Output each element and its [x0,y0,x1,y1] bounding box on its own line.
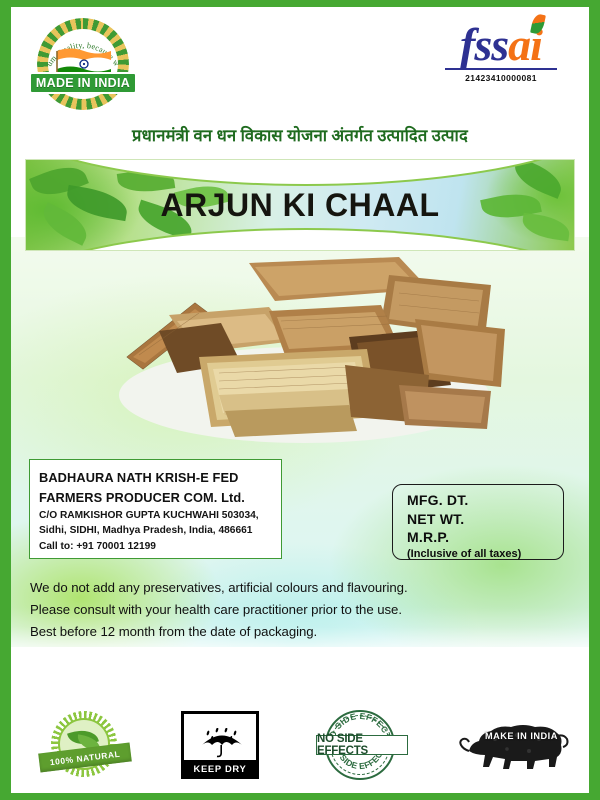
fssai-letter-a: a [508,19,530,70]
make-in-india-badge: MAKE IN INDIA [459,715,571,775]
label-inner: Premium Quality, because we care MADE IN… [11,7,589,793]
net-weight-label: NET WT. [407,510,563,529]
certification-badges: 100% NATURAL KEEP [11,707,589,783]
tax-note: (Inclusive of all taxes) [407,547,563,561]
producer-address-line2: Sidhi, SIDHI, Madhya Pradesh, India, 486… [39,523,272,539]
producer-name-line1: BADHAURA NATH KRISH-E FED [39,468,272,488]
natural-badge: 100% NATURAL [33,709,143,781]
no-side-effects-band: NO SIDE EFFECTS [316,735,408,755]
keep-dry-label: KEEP DRY [193,763,246,774]
disclaimer-line-3: Best before 12 month from the date of pa… [30,621,560,643]
umbrella-rain-icon [198,728,246,758]
fssai-logo: fssai 21423410000081 [441,23,561,83]
product-details-box: MFG. DT. NET WT. M.R.P. (Inclusive of al… [392,484,564,560]
fssai-license-number: 21423410000081 [441,73,561,83]
fssai-letter-ss: ss [474,19,508,70]
product-title: ARJUN KI CHAAL [26,160,574,250]
producer-name-line2: FARMERS PRODUCER COM. Ltd. [39,488,272,508]
disclaimer-line-1: We do not add any preservatives, artific… [30,577,560,599]
make-in-india-label: MAKE IN INDIA [485,731,558,741]
mfg-date-label: MFG. DT. [407,491,563,510]
label-header: Premium Quality, because we care MADE IN… [11,7,589,115]
producer-phone: Call to: +91 70001 12199 [39,539,272,555]
made-in-india-label: MADE IN INDIA [36,76,130,90]
producer-address-box: BADHAURA NATH KRISH-E FED FARMERS PRODUC… [29,459,282,559]
keep-dry-bar: KEEP DRY [184,760,256,776]
scheme-line: प्रधानमंत्री वन धन विकास योजना अंतर्गत उ… [11,115,589,153]
product-title-banner: ARJUN KI CHAAL [25,159,575,251]
made-in-india-seal: Premium Quality, because we care MADE IN… [23,15,143,115]
fssai-wordmark: fssai [460,23,542,67]
natural-label: 100% NATURAL [49,748,120,767]
disclaimer-line-2: Please consult with your health care pra… [30,599,560,621]
disclaimer-block: We do not add any preservatives, artific… [30,577,560,642]
product-label: Premium Quality, because we care MADE IN… [0,0,600,800]
no-side-effects-label: NO SIDE EFFECTS [317,733,407,757]
made-in-india-banner: MADE IN INDIA [29,72,137,94]
no-side-effects-badge: NO SIDE EFFECTS NO SIDE EFFECTS NO SIDE … [316,709,408,781]
fssai-letter-f: f [460,19,474,70]
producer-address-line1: C/O RAMKISHOR GUPTA KUCHWAHI 503034, [39,508,272,524]
mrp-label: M.R.P. [407,528,563,547]
product-photo [99,245,509,445]
fssai-leaf-icon [530,13,546,35]
lion-icon [459,715,571,775]
keep-dry-badge: KEEP DRY [181,711,259,779]
